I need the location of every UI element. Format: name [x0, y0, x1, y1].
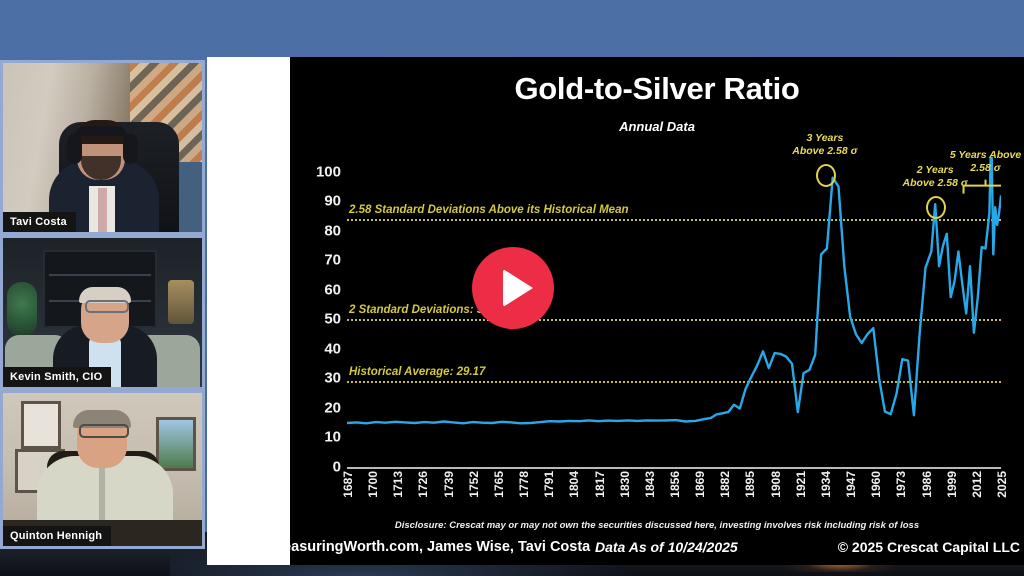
x-axis-tick: 1817 — [593, 471, 607, 498]
x-axis-tick: 1921 — [794, 471, 808, 498]
x-axis-tick: 1752 — [467, 471, 481, 498]
participant-video-feed — [3, 393, 202, 546]
x-axis-tick: 1791 — [542, 471, 556, 498]
y-axis-tick: 0 — [293, 459, 341, 476]
x-axis-tick: 2012 — [970, 471, 984, 498]
headphones-band-icon — [75, 126, 127, 136]
y-axis-tick: 20 — [293, 399, 341, 416]
chart-annotation: 3 YearsAbove 2.58 σ — [773, 132, 877, 158]
x-axis-tick: 1973 — [894, 471, 908, 498]
decor-lamp — [168, 280, 194, 324]
headphones-left-icon — [67, 134, 82, 164]
x-axis-tick: 1895 — [743, 471, 757, 498]
chart-subtitle: Annual Data — [290, 119, 1024, 134]
x-axis-tick: 1908 — [769, 471, 783, 498]
x-axis-tick: 2025 — [995, 471, 1009, 498]
participant-name-label: Tavi Costa — [3, 212, 76, 232]
decor-framed-picture-1 — [21, 401, 61, 449]
play-button[interactable] — [472, 247, 554, 329]
participant-video-feed — [3, 63, 202, 232]
y-axis-tick: 90 — [293, 193, 341, 210]
y-axis-tick: 10 — [293, 429, 341, 446]
x-axis-tick: 1999 — [945, 471, 959, 498]
y-axis-tick: 50 — [293, 311, 341, 328]
x-axis-tick: 1765 — [492, 471, 506, 498]
person-shirt-placket — [99, 458, 105, 528]
copyright-label: © 2025 Crescat Capital LLC — [838, 539, 1020, 555]
y-axis-tick: 40 — [293, 340, 341, 357]
person-tie — [98, 188, 107, 232]
participant-tile-kevin-smith[interactable]: Kevin Smith, CIO — [0, 235, 205, 390]
participant-name-label: Kevin Smith, CIO — [3, 367, 111, 387]
participant-tile-quinton-hennigh[interactable]: Quinton Hennigh — [0, 390, 205, 549]
participant-name-label: Quinton Hennigh — [3, 526, 111, 546]
as-of-label: Data As of 10/24/2025 — [595, 539, 738, 555]
x-axis-tick: 1804 — [567, 471, 581, 498]
x-axis-tick: 1843 — [643, 471, 657, 498]
x-axis-tick: 1869 — [693, 471, 707, 498]
eyeglasses-icon — [79, 424, 129, 438]
participant-tile-tavi-costa[interactable]: Tavi Costa — [0, 60, 205, 235]
participant-video-feed — [3, 238, 202, 387]
y-axis-tick: 30 — [293, 370, 341, 387]
gold-to-silver-ratio-chart: Gold-to-Silver Ratio Annual Data 0102030… — [290, 57, 1024, 565]
x-axis-tick: 1713 — [391, 471, 405, 498]
x-axis-tick: 1856 — [668, 471, 682, 498]
chart-footer: Source: MeasuringWorth.com, James Wise, … — [290, 537, 1024, 561]
y-axis-tick: 70 — [293, 252, 341, 269]
x-axis-tick: 1830 — [618, 471, 632, 498]
x-axis-tick: 1960 — [869, 471, 883, 498]
y-axis: 0102030405060708090100 — [290, 157, 345, 467]
x-axis-tick: 1947 — [844, 471, 858, 498]
x-axis-line — [347, 467, 1001, 469]
decor-plant — [7, 282, 37, 336]
x-axis-tick: 1778 — [517, 471, 531, 498]
y-axis-tick: 60 — [293, 281, 341, 298]
x-axis-tick: 1986 — [920, 471, 934, 498]
x-axis-tick: 1700 — [366, 471, 380, 498]
chart-title: Gold-to-Silver Ratio — [290, 71, 1024, 107]
y-axis-tick: 100 — [293, 163, 341, 180]
disclosure-text: Disclosure: Crescat may or may not own t… — [290, 520, 1024, 531]
bracket-and-arrow-annotation — [347, 157, 1001, 467]
x-axis-tick: 1934 — [819, 471, 833, 498]
x-axis-tick: 1726 — [416, 471, 430, 498]
x-axis-tick: 1882 — [718, 471, 732, 498]
plot-area: 2.58 Standard Deviations Above its Histo… — [347, 157, 1001, 467]
presentation-slide: Gold-to-Silver Ratio Annual Data 0102030… — [207, 57, 1024, 565]
headphones-right-icon — [123, 134, 138, 164]
source-label: Source: MeasuringWorth.com, James Wise, … — [213, 539, 590, 555]
eyeglasses-icon — [85, 300, 129, 313]
decor-framed-picture-3 — [156, 417, 196, 471]
play-triangle-icon — [503, 269, 533, 307]
y-axis-tick: 80 — [293, 222, 341, 239]
x-axis-tick: 1687 — [341, 471, 355, 498]
x-axis-tick: 1739 — [442, 471, 456, 498]
